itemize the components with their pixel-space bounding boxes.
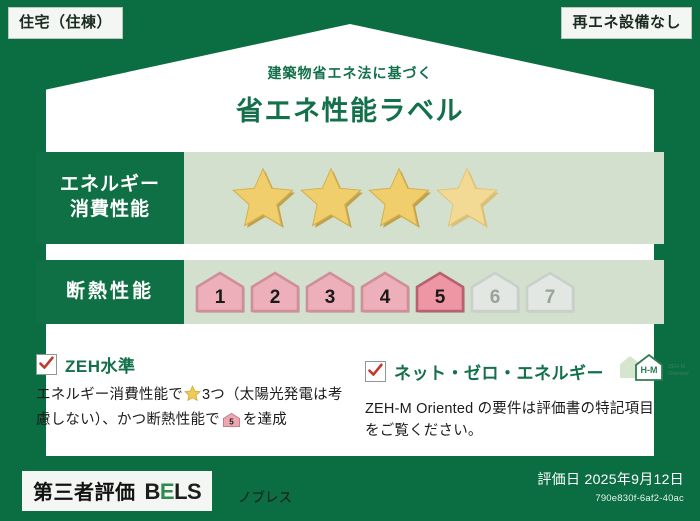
inline-star-icon	[184, 390, 201, 406]
energy-label-line2: 消費性能	[70, 198, 150, 223]
star-filled-icon	[434, 166, 500, 230]
bels-certification-plate: 第三者評価 BELS	[22, 471, 212, 511]
evaluation-info: 評価日 2025年9月12日 790e830f-6af2-40ac	[537, 469, 684, 504]
net-zero-energy-title: ネット・ゼロ・エネルギー	[394, 359, 604, 384]
svg-text:Oriented: Oriented	[668, 371, 689, 377]
energy-star-rating	[184, 152, 664, 244]
evaluation-date-label: 評価日	[537, 471, 580, 487]
insulation-level-chip-inactive: 6	[469, 271, 521, 313]
inline-insulation-chip: 5	[222, 416, 241, 432]
zeh-standard-heading: ZEH水準	[36, 352, 351, 377]
zeh-standard-title: ZEH水準	[65, 352, 136, 377]
building-type-tag: 住宅（住棟）	[8, 7, 123, 39]
net-zero-energy-description: ZEH-M Oriented の要件は評価書の特記項目をご覧ください。	[365, 398, 665, 443]
energy-label-line1: エネルギー	[60, 173, 160, 198]
star-filled-icon	[298, 166, 364, 230]
insulation-level-chip-inactive: 7	[524, 271, 576, 313]
evaluation-date-line: 評価日 2025年9月12日	[537, 469, 684, 489]
third-party-evaluation-text: 第三者評価	[33, 476, 136, 505]
owner-name: ノブレス	[238, 486, 292, 506]
checkbox-checked-icon	[365, 361, 386, 382]
svg-text:ZEH-M: ZEH-M	[668, 364, 686, 370]
insulation-level-scale: 1234567	[184, 260, 664, 324]
zeh-standard-description: エネルギー消費性能で3つ（太陽光発電は考慮しない）、かつ断熱性能で5を達成	[36, 384, 351, 436]
label-footer: 第三者評価 BELS ノブレス 評価日 2025年9月12日 790e830f-…	[0, 459, 700, 521]
insulation-performance-row: 断熱性能 1234567	[36, 260, 664, 324]
label-heading: 建築物省エネ法に基づく 省エネ性能ラベル	[0, 63, 700, 128]
star-filled-icon	[230, 166, 296, 230]
zeh-desc-part3: を達成	[243, 412, 287, 428]
star-filled-icon	[366, 166, 432, 230]
insulation-level-chip-active: 2	[249, 271, 301, 313]
bels-letter-e: E	[160, 479, 174, 504]
net-zero-energy-block: ネット・ゼロ・エネルギー H-M ZEH-M Oriented ZEH-M Or…	[365, 352, 665, 443]
zeh-standard-block: ZEH水準 エネルギー消費性能で3つ（太陽光発電は考慮しない）、かつ断熱性能で5…	[36, 352, 351, 436]
bels-letter-b: B	[145, 479, 160, 504]
svg-text:H-M: H-M	[641, 365, 658, 375]
renewable-energy-tag: 再エネ設備なし	[561, 7, 692, 39]
bels-wordmark: BELS	[145, 479, 202, 505]
zeh-m-oriented-logo-icon: H-M ZEH-M Oriented	[616, 352, 694, 391]
bels-letters-ls: LS	[174, 479, 201, 504]
energy-performance-row-label: エネルギー 消費性能	[36, 152, 184, 244]
insulation-level-chip-active: 5	[414, 271, 466, 313]
net-zero-energy-heading: ネット・ゼロ・エネルギー H-M ZEH-M Oriented	[365, 352, 665, 391]
evaluation-id: 790e830f-6af2-40ac	[537, 493, 684, 504]
svg-text:5: 5	[229, 418, 234, 427]
evaluation-date-value: 2025年9月12日	[584, 471, 684, 487]
insulation-level-chip-active: 3	[304, 271, 356, 313]
label-subtitle: 建築物省エネ法に基づく	[0, 63, 700, 83]
insulation-level-chip-active: 1	[194, 271, 246, 313]
checkbox-checked-icon	[36, 354, 57, 375]
insulation-performance-row-label: 断熱性能	[36, 260, 184, 324]
page-title: 省エネ性能ラベル	[0, 89, 700, 128]
zeh-desc-part1: エネルギー消費性能で	[36, 387, 183, 403]
insulation-level-chip-active: 4	[359, 271, 411, 313]
energy-performance-row: エネルギー 消費性能	[36, 152, 664, 244]
energy-performance-label: 住宅（住棟） 再エネ設備なし 建築物省エネ法に基づく 省エネ性能ラベル エネルギ…	[0, 0, 700, 521]
